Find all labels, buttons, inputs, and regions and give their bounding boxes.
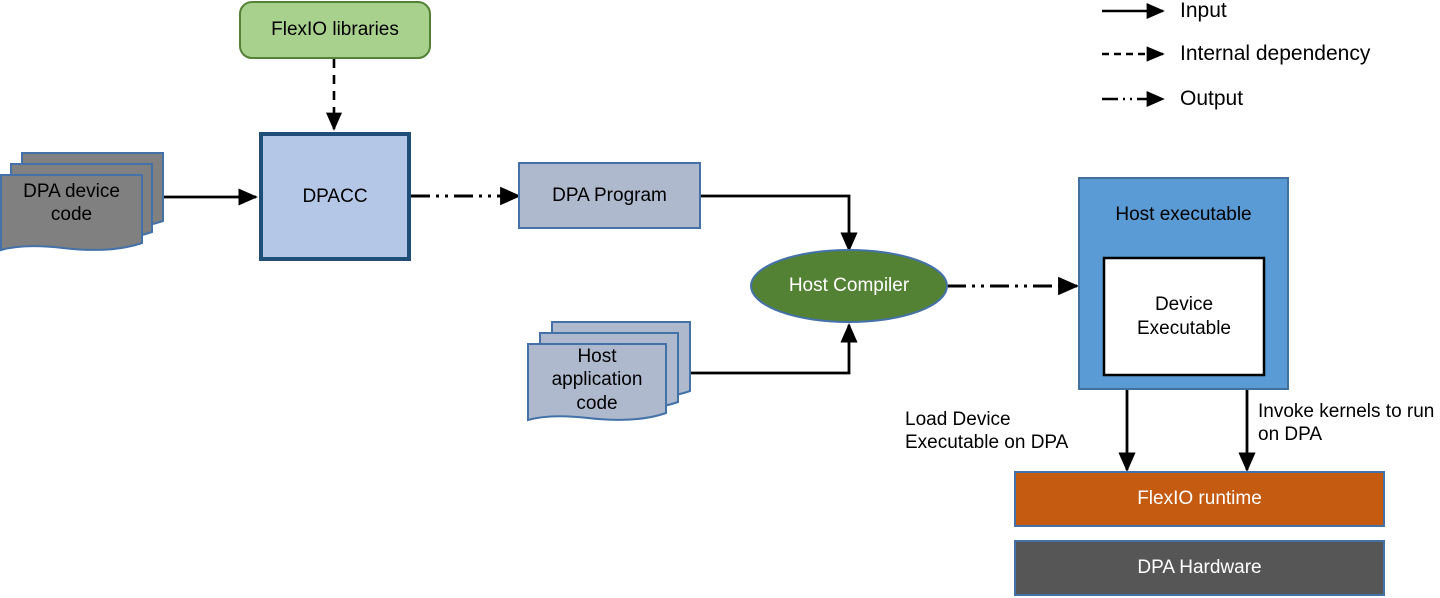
node-dpa-device-code[interactable] (1, 153, 163, 250)
edge-label-invoke-kernels: Invoke kernels to run on DPA (1258, 400, 1434, 446)
node-dpa-hardware[interactable] (1015, 541, 1384, 595)
legend-label-output: Output (1180, 88, 1243, 109)
node-flexio-libraries[interactable] (240, 2, 430, 58)
edge-label-load-device-executable: Load Device Executable on DPA (905, 408, 1068, 454)
legend-group (1102, 11, 1163, 99)
edge-host-application-code-to-host-compiler (690, 325, 849, 373)
dpa-device-code-sheet-front (1, 175, 142, 250)
node-dpacc[interactable] (261, 134, 409, 259)
node-dpa-program[interactable] (519, 163, 700, 228)
node-host-compiler[interactable] (751, 250, 947, 322)
node-host-application-code[interactable] (528, 322, 690, 420)
edge-dpa-program-to-host-compiler (700, 196, 849, 250)
diagram-canvas: Input Internal dependency Output FlexIO … (0, 0, 1440, 598)
legend-label-input: Input (1180, 0, 1227, 21)
host-app-code-sheet-front (528, 344, 666, 420)
node-device-executable[interactable] (1104, 258, 1264, 375)
node-flexio-runtime[interactable] (1015, 472, 1384, 526)
legend-label-internal-dependency: Internal dependency (1180, 43, 1370, 64)
